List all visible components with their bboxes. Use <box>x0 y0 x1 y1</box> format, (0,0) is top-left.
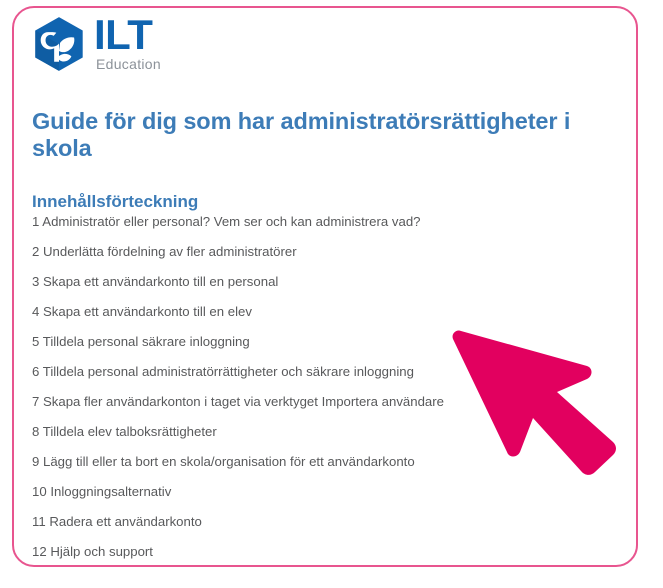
list-item[interactable]: 7 Skapa fler användarkonton i taget via … <box>32 390 502 420</box>
list-item[interactable]: 3 Skapa ett användarkonto till en person… <box>32 270 502 300</box>
guide-card: ILT Education Guide för dig som har admi… <box>12 6 638 567</box>
list-item[interactable]: 8 Tilldela elev talboksrättigheter <box>32 420 502 450</box>
logo-tagline: Education <box>96 57 161 72</box>
list-item[interactable]: 1 Administratör eller personal? Vem ser … <box>32 210 502 240</box>
list-item[interactable]: 12 Hjälp och support <box>32 540 502 570</box>
ilt-education-logo: ILT Education <box>32 14 161 73</box>
list-item[interactable]: 5 Tilldela personal säkrare inloggning <box>32 330 502 360</box>
page-title: Guide för dig som har administratörsrätt… <box>32 108 632 162</box>
ilt-cube-leaf-icon <box>32 16 86 72</box>
list-item[interactable]: 2 Underlätta fördelning av fler administ… <box>32 240 502 270</box>
list-item[interactable]: 11 Radera ett användarkonto <box>32 510 502 540</box>
list-item[interactable]: 9 Lägg till eller ta bort en skola/organ… <box>32 450 502 480</box>
logo-wordmark: ILT Education <box>94 14 161 73</box>
page-root: ILT Education Guide för dig som har admi… <box>0 0 663 588</box>
list-item[interactable]: 4 Skapa ett användarkonto till en elev <box>32 300 502 330</box>
list-item[interactable]: 10 Inloggningsalternativ <box>32 480 502 510</box>
list-item[interactable]: 6 Tilldela personal administratörrättigh… <box>32 360 502 390</box>
logo-name: ILT <box>94 14 152 55</box>
table-of-contents: 1 Administratör eller personal? Vem ser … <box>32 210 502 570</box>
